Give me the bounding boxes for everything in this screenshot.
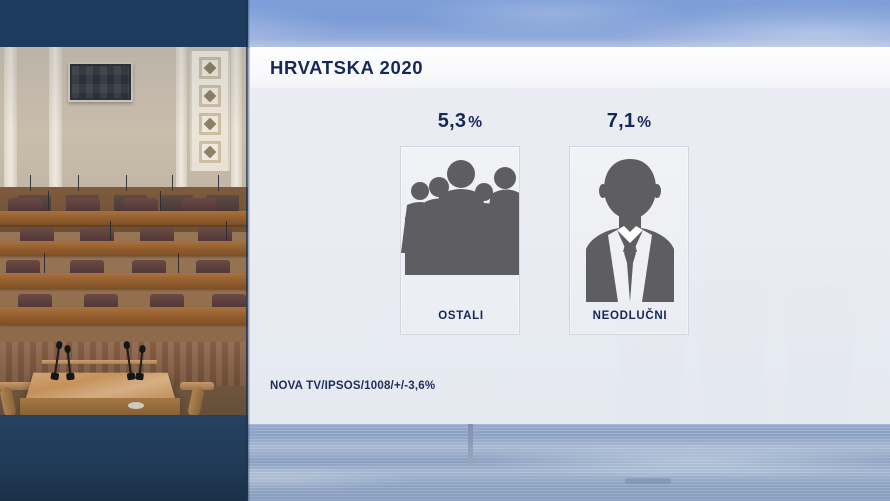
- panel-header: HRVATSKA 2020: [250, 47, 890, 88]
- results-card-list: 5,3%: [400, 110, 689, 335]
- navy-frame-bottom: [0, 424, 248, 501]
- chamber-bench-rows: [0, 197, 248, 342]
- result-number: 5,3: [438, 110, 466, 132]
- broadcast-graphic-stage: HRVATSKA 2020 5,3%: [0, 0, 890, 501]
- person-silhouette-icon: [570, 147, 689, 302]
- chamber-crest-column: [190, 51, 230, 171]
- croatian-parliament-chamber-photo: [0, 47, 248, 425]
- result-label-neodlucni: NEODLUČNI: [570, 310, 689, 322]
- result-card-neodlucni: 7,1%: [569, 110, 689, 335]
- result-label-ostali: OSTALI: [401, 310, 520, 322]
- chamber-speaker-podium: [0, 342, 248, 425]
- result-value-neodlucni: 7,1%: [569, 110, 689, 133]
- percent-symbol: %: [468, 114, 482, 131]
- background-sea-pole: [468, 424, 473, 466]
- panel-body: 5,3%: [250, 88, 890, 424]
- result-card-ostali: 5,3%: [400, 110, 520, 335]
- source-attribution: NOVA TV/IPSOS/1008/+/-3,6%: [270, 380, 435, 392]
- page-title: HRVATSKA 2020: [270, 57, 423, 79]
- navy-frame-top: [0, 0, 248, 48]
- result-card-box-ostali: OSTALI: [400, 146, 520, 335]
- chamber-display-screen: [68, 62, 133, 102]
- group-silhouette-icon: [401, 147, 520, 302]
- percent-symbol: %: [637, 114, 651, 131]
- result-value-ostali: 5,3%: [400, 110, 520, 133]
- result-card-box-neodlucni: NEODLUČNI: [569, 146, 689, 335]
- background-sea-boat: [625, 478, 671, 484]
- result-number: 7,1: [607, 110, 635, 132]
- results-panel: HRVATSKA 2020 5,3%: [250, 47, 890, 424]
